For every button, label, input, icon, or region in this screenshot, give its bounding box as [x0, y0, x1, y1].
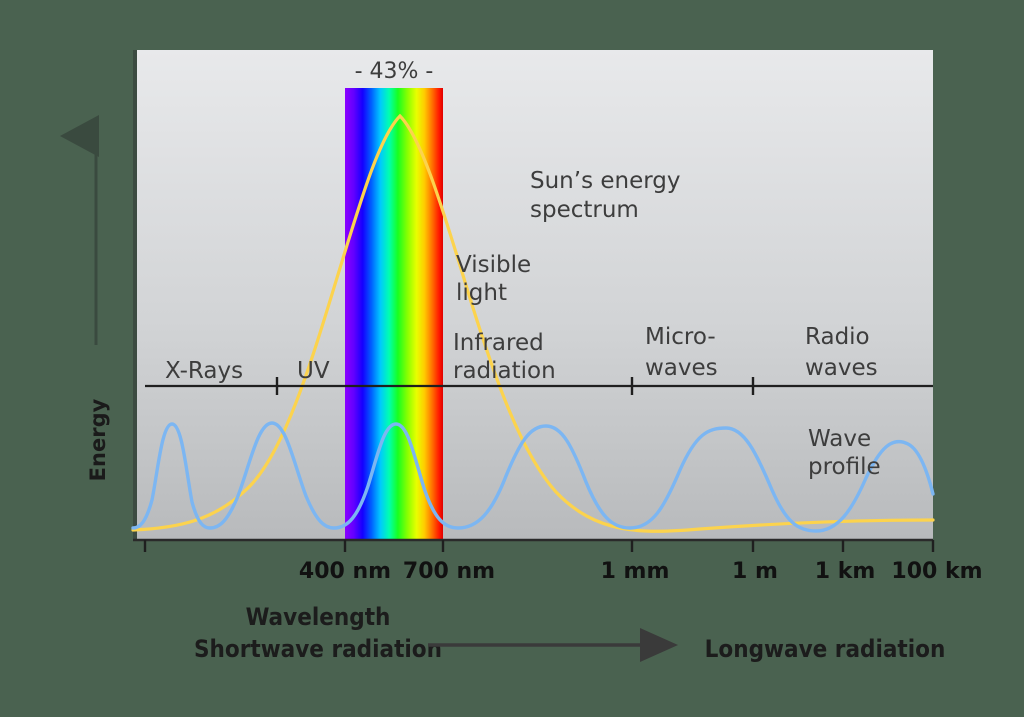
caption-shortwave: Shortwave radiation: [194, 635, 442, 663]
y-axis-title: Energy: [86, 398, 110, 481]
x-tick-label-1m: 1 m: [732, 559, 778, 584]
x-tick-label-400nm: 400 nm: [299, 559, 391, 584]
wave-profile-annotation-line1: Wave: [808, 426, 871, 452]
caption-wavelength: Wavelength: [246, 603, 391, 631]
wave-profile-annotation-line2: profile: [808, 454, 881, 480]
x-tick-label-700nm: 700 nm: [403, 559, 495, 584]
direction-arrow-icon: [640, 628, 678, 662]
x-tick-label-1mm: 1 mm: [601, 559, 670, 584]
visible-light-annotation-line1: Visible: [456, 252, 531, 278]
band-label-infrared-line2: radiation: [453, 358, 556, 384]
band-label-radiowaves-line2: waves: [805, 355, 878, 381]
visible-light-annotation-line2: light: [456, 280, 507, 306]
plot-left-border: [133, 50, 137, 540]
band-label-microwaves-line2: waves: [645, 355, 718, 381]
x-tick-label-100km: 100 km: [891, 559, 982, 584]
diagram-stage: - 43% - X-Rays UV Infrared radiation Mic…: [0, 0, 1024, 717]
sun-spectrum-annotation-line2: spectrum: [530, 197, 639, 223]
x-tick-label-1km: 1 km: [815, 559, 876, 584]
band-label-x-rays: X-Rays: [165, 358, 243, 384]
spectrum-diagram: - 43% - X-Rays UV Infrared radiation Mic…: [0, 0, 1024, 717]
visible-light-band: [345, 88, 443, 540]
band-label-uv: UV: [297, 358, 330, 384]
band-label-radiowaves-line1: Radio: [805, 324, 870, 350]
visible-share-label: - 43% -: [355, 59, 434, 84]
caption-longwave: Longwave radiation: [705, 635, 946, 663]
band-label-infrared-line1: Infrared: [453, 330, 544, 356]
sun-spectrum-annotation-line1: Sun’s energy: [530, 168, 681, 194]
band-label-microwaves-line1: Micro-: [645, 324, 716, 350]
